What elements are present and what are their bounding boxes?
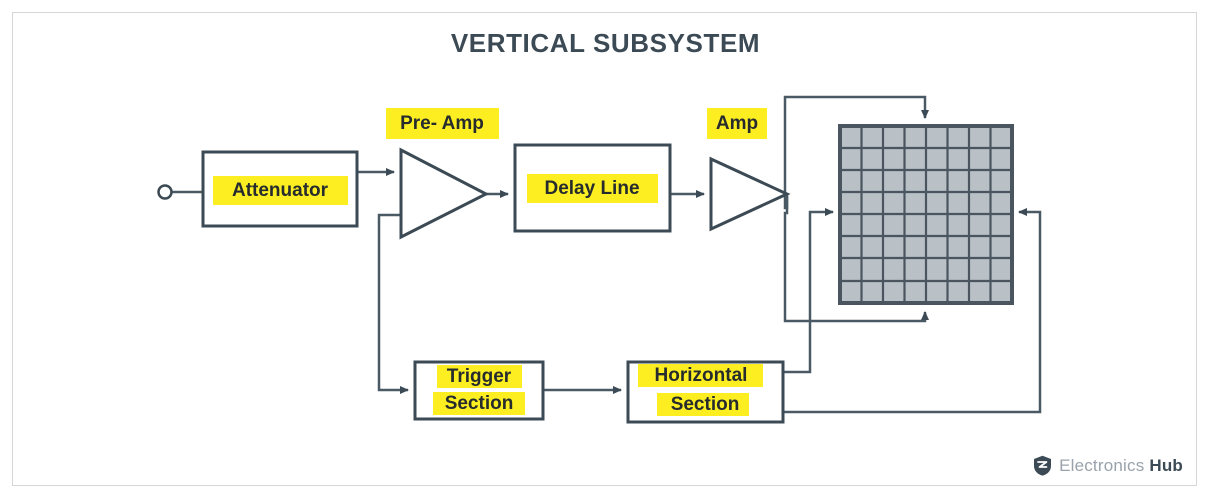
- amp-label-group: Amp: [707, 108, 767, 139]
- delay-line-label: Delay Line: [544, 178, 639, 199]
- vertical-subsystem-diagram: Attenuator Pre- Amp Delay Line Amp: [0, 0, 1211, 500]
- block-attenuator[interactable]: Attenuator: [203, 152, 357, 226]
- horizontal-label-line2: Section: [671, 394, 740, 415]
- trigger-label-line1: Trigger: [447, 366, 512, 387]
- block-amp[interactable]: [711, 159, 787, 229]
- block-horizontal-section[interactable]: Horizontal Section: [628, 362, 783, 422]
- input-terminal-icon: [159, 186, 172, 199]
- preamp-label-group: Pre- Amp: [386, 108, 499, 139]
- block-trigger-section[interactable]: Trigger Section: [415, 362, 543, 419]
- logo-text: Electronics Hub: [1059, 456, 1183, 476]
- wire-horizontal-to-crt-left: [783, 212, 833, 372]
- trigger-label-line2: Section: [445, 393, 514, 414]
- amp-label: Amp: [716, 113, 758, 134]
- logo-text-light: Electronics: [1059, 456, 1144, 475]
- diagram-page: VERTICAL SUBSYSTEM: [0, 0, 1211, 500]
- preamp-label: Pre- Amp: [400, 113, 484, 134]
- logo-text-bold: Hub: [1149, 456, 1183, 475]
- block-delay-line[interactable]: Delay Line: [515, 145, 670, 231]
- wire-preamp-to-trigger: [379, 215, 408, 390]
- electronics-hub-logo: Electronics Hub: [1033, 455, 1183, 476]
- shield-icon: [1033, 455, 1052, 476]
- horizontal-label-line1: Horizontal: [655, 365, 748, 386]
- attenuator-label: Attenuator: [232, 180, 329, 201]
- block-preamp[interactable]: [401, 150, 486, 237]
- crt-display[interactable]: [840, 126, 1012, 303]
